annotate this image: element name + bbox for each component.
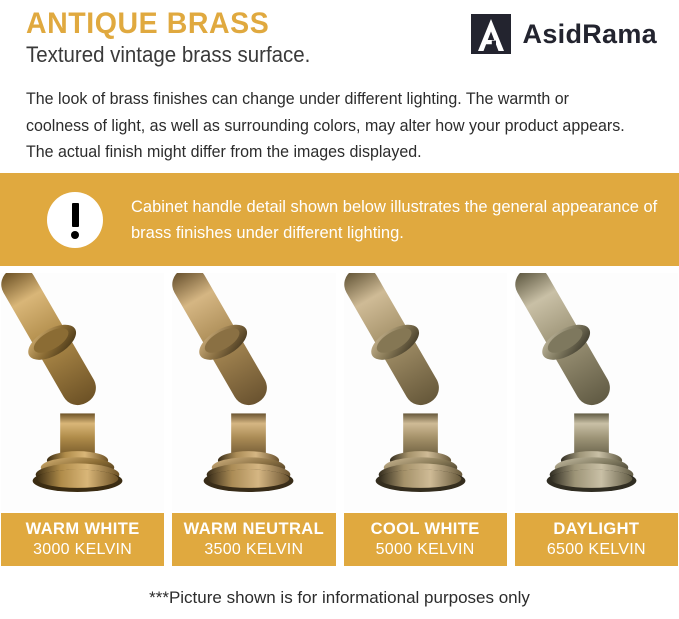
lighting-panel: WARM WHITE 3000 KELVIN (1, 273, 164, 568)
lighting-panel: WARM NEUTRAL 3500 KELVIN (172, 273, 335, 568)
page-title: ANTIQUE BRASS (26, 8, 316, 40)
page-subtitle: Textured vintage brass surface. (26, 43, 310, 67)
lighting-label-kelvin: 6500 KELVIN (547, 540, 646, 559)
lighting-label-name: WARM NEUTRAL (184, 520, 324, 540)
cabinet-handle-photo (172, 273, 335, 511)
exclamation-circle-icon (47, 192, 103, 248)
callout-banner: Cabinet handle detail shown below illust… (0, 173, 679, 266)
lighting-label-kelvin: 3500 KELVIN (204, 540, 303, 559)
lighting-panel: DAYLIGHT 6500 KELVIN (515, 273, 678, 568)
brand-logo: AsidRama (469, 6, 657, 56)
page-header: ANTIQUE BRASS Textured vintage brass sur… (0, 0, 679, 78)
exclamation-bar (72, 203, 79, 227)
lighting-label-name: COOL WHITE (371, 520, 480, 540)
asidrama-a-monogram-icon (469, 12, 513, 56)
lighting-label: WARM WHITE 3000 KELVIN (1, 513, 164, 566)
lighting-panel: COOL WHITE 5000 KELVIN (344, 273, 507, 568)
header-title-group: ANTIQUE BRASS Textured vintage brass sur… (26, 6, 332, 67)
lighting-label: DAYLIGHT 6500 KELVIN (515, 513, 678, 566)
intro-section: The look of brass finishes can change un… (0, 78, 679, 166)
lighting-label: WARM NEUTRAL 3500 KELVIN (172, 513, 335, 566)
exclamation-dot (71, 231, 79, 239)
cabinet-handle-photo (344, 273, 507, 511)
lighting-label: COOL WHITE 5000 KELVIN (344, 513, 507, 566)
lighting-label-kelvin: 3000 KELVIN (33, 540, 132, 559)
brand-name: AsidRama (523, 21, 657, 48)
cabinet-handle-photo (1, 273, 164, 511)
lighting-label-kelvin: 5000 KELVIN (376, 540, 475, 559)
footer-disclaimer: ***Picture shown is for informational pu… (0, 588, 679, 608)
cabinet-handle-photo (515, 273, 678, 511)
lighting-label-name: DAYLIGHT (553, 520, 639, 540)
lighting-label-name: WARM WHITE (26, 520, 140, 540)
callout-banner-text: Cabinet handle detail shown below illust… (131, 194, 663, 245)
intro-paragraph: The look of brass finishes can change un… (26, 86, 636, 166)
lighting-swatch-panels: WARM WHITE 3000 KELVIN (0, 273, 679, 568)
